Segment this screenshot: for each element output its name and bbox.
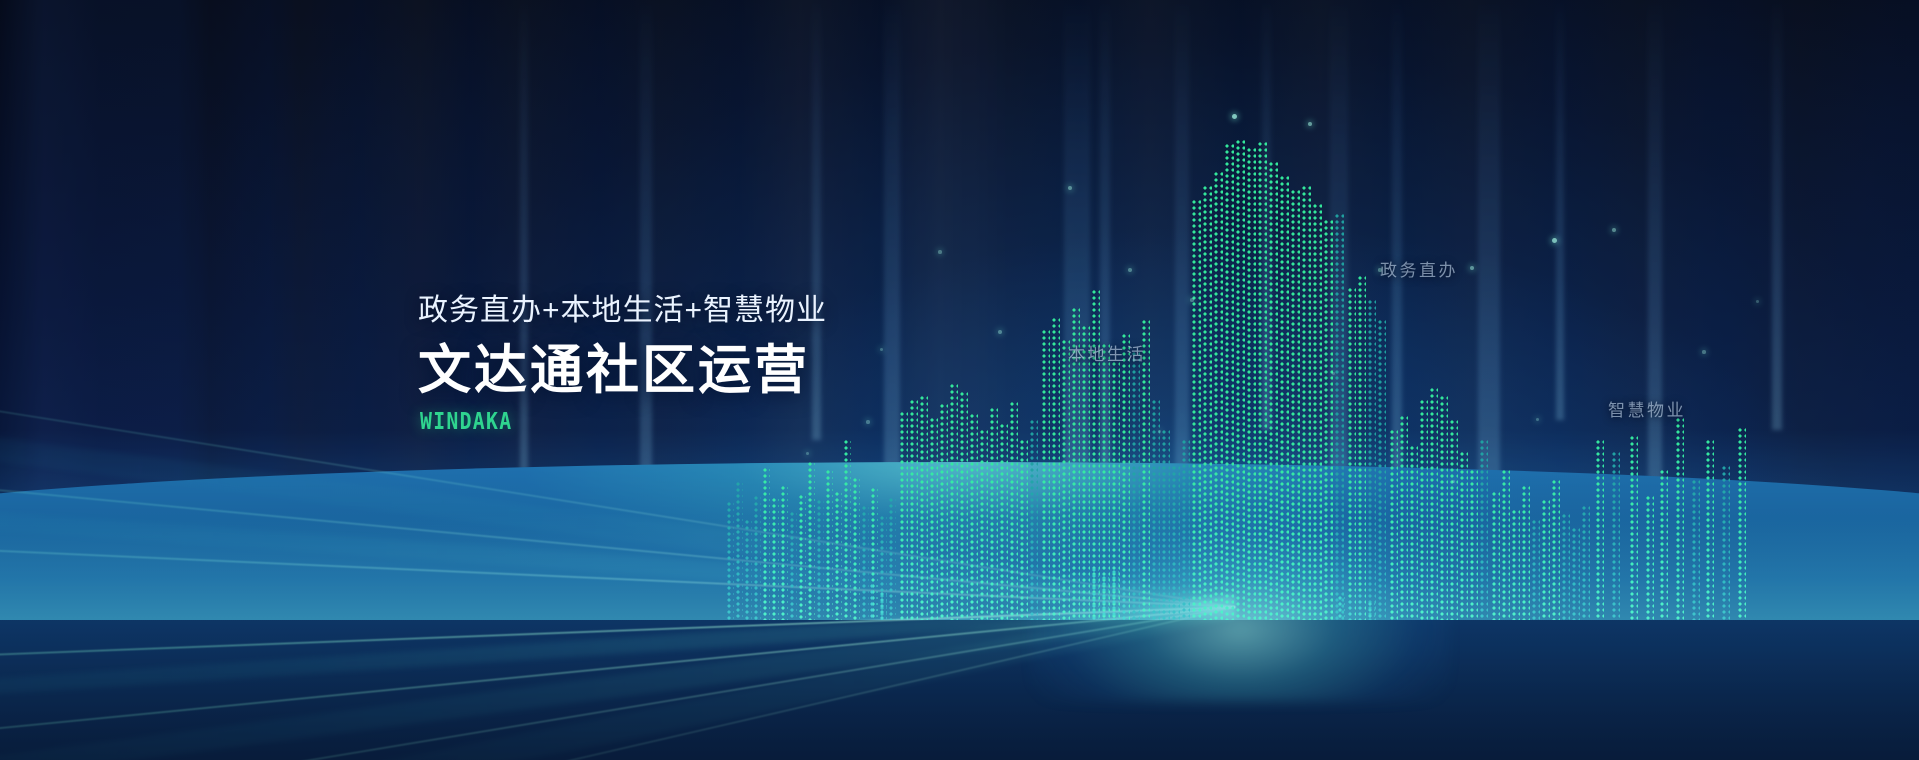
banner-headline: 文达通社区运营 — [418, 342, 827, 399]
zone-label-bendishenghuo: 本地生活 — [1068, 340, 1146, 365]
headline-copy-block: 政务直办+本地生活+智慧物业 文达通社区运营 WINDAKA — [418, 292, 827, 435]
brand-wordmark: WINDAKA — [420, 409, 770, 435]
banner-stage: 政务直办+本地生活+智慧物业 文达通社区运营 WINDAKA 政务直办 本地生活… — [0, 0, 1919, 760]
city-base-haze — [0, 430, 1919, 620]
zone-label-zhengwuzhiban: 政务直办 — [1380, 256, 1458, 281]
banner-subtitle: 政务直办+本地生活+智慧物业 — [418, 292, 827, 330]
zone-label-zhihuiwuye: 智慧物业 — [1608, 396, 1686, 421]
dot-matrix-skyline — [0, 0, 1919, 760]
